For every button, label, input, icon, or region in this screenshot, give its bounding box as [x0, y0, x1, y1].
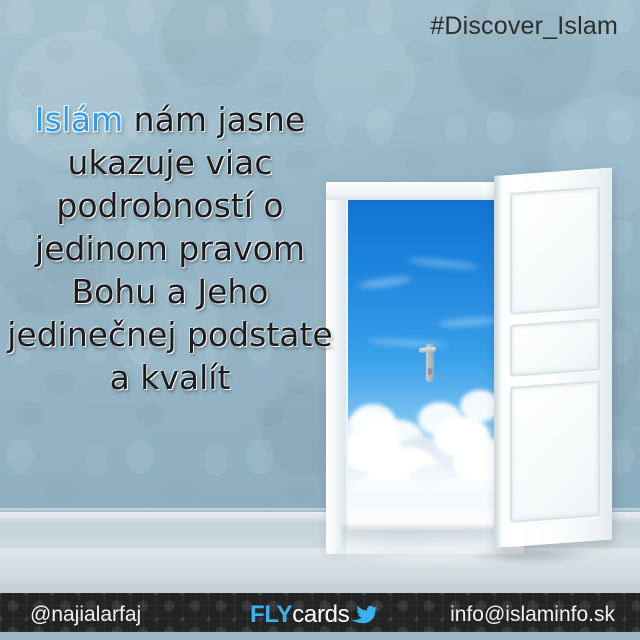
bird-icon — [348, 600, 382, 626]
door-leaf[interactable] — [494, 168, 612, 548]
headline-body: nám jasne ukazuje viac podrobností o jed… — [7, 100, 333, 397]
hashtag-label: #Discover_Islam — [430, 12, 618, 41]
cloud-wisp — [408, 256, 478, 270]
social-card: #Discover_Islam Islám nám jasne ukazuje … — [0, 0, 640, 640]
cloud-wisp — [358, 274, 413, 290]
door-cast-shadow — [468, 542, 628, 568]
door-leaf-edge — [494, 175, 501, 548]
logo-cards-text: cards — [292, 601, 349, 628]
door-panel-middle — [510, 318, 600, 376]
door-keyhole — [428, 368, 432, 375]
open-door-illustration — [318, 176, 640, 556]
cloud-wisp — [368, 338, 448, 348]
logo-fly-text: FLY — [250, 601, 292, 628]
twitter-handle[interactable]: @najialarfaj — [30, 603, 141, 627]
email-address[interactable]: info@islaminfo.sk — [450, 603, 615, 627]
headline-text: Islám nám jasne ukazuje viac podrobností… — [4, 98, 336, 399]
footer-bottom-strip — [0, 632, 640, 640]
flycards-logo[interactable]: FLYcards — [250, 601, 349, 629]
headline-keyword: Islám — [35, 100, 123, 139]
door-panel-bottom — [510, 380, 600, 522]
horizon-haze — [348, 442, 506, 530]
cloud-wisp — [438, 316, 498, 328]
door-panel-top — [510, 186, 600, 314]
